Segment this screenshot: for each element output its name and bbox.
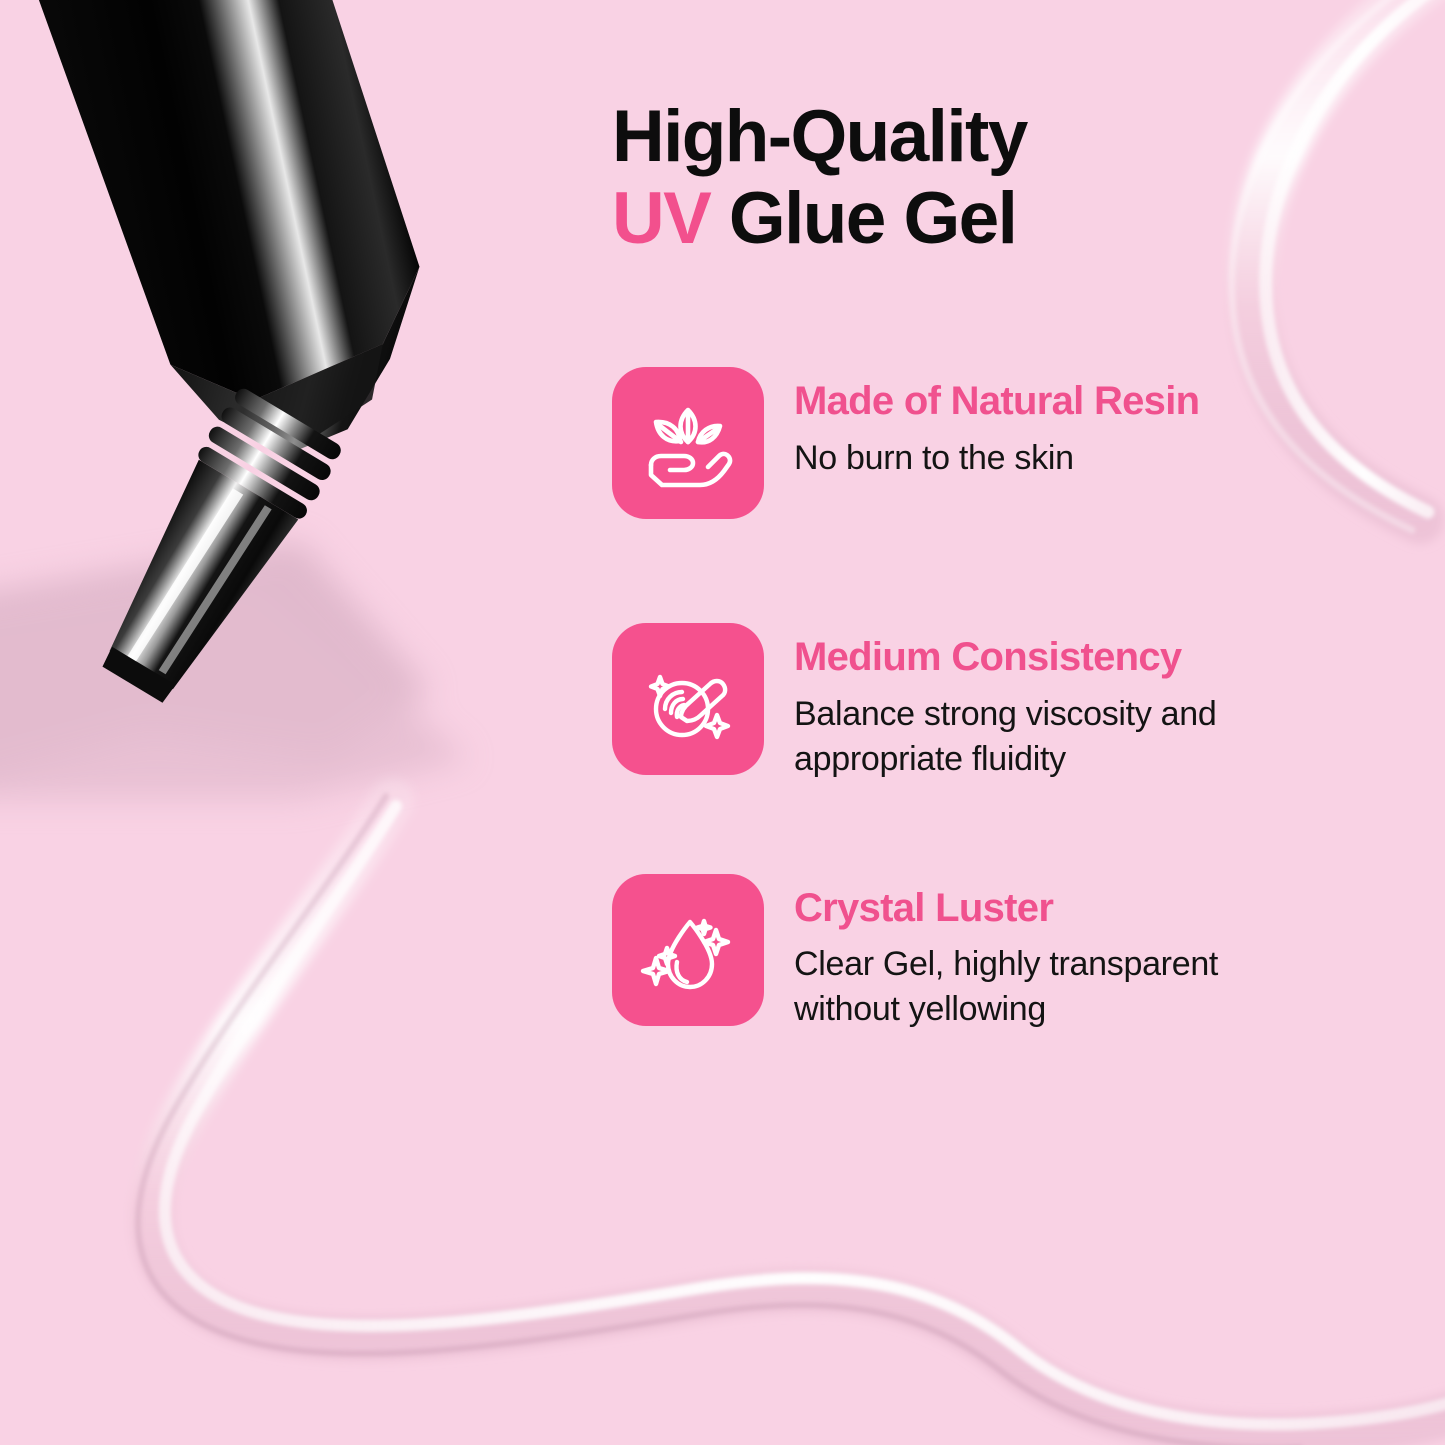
headline-line-1: High-Quality [612,96,1027,177]
tube-shadow [0,540,470,800]
headline-accent-uv: UV [612,178,710,259]
feature-description: Balance strong viscosity and appropriate… [794,692,1314,782]
hand-holding-leaves-icon [640,395,736,491]
feature-icon-tile [612,874,764,1026]
brush-in-bowl-sparkle-icon [640,651,736,747]
feature-item-crystal-luster: Crystal Luster Clear Gel, highly transpa… [612,874,1352,1033]
feature-title: Made of Natural Resin [794,379,1199,424]
infographic-canvas: Net Wt. 0.53 oz / 15 g High-Quality UV G… [0,0,1445,1445]
feature-text-block: Made of Natural Resin No burn to the ski… [764,367,1199,481]
feature-list: Made of Natural Resin No burn to the ski… [612,367,1352,1032]
feature-text-block: Medium Consistency Balance strong viscos… [764,623,1314,782]
feature-icon-tile [612,623,764,775]
feature-title: Medium Consistency [794,635,1314,680]
feature-description: Clear Gel, highly transparent without ye… [794,942,1314,1032]
product-tube-graphic: Net Wt. 0.53 oz / 15 g [0,0,490,850]
page-title: High-Quality UV Glue Gel [612,96,1352,261]
feature-item-natural-resin: Made of Natural Resin No burn to the ski… [612,367,1352,519]
feature-item-medium-consistency: Medium Consistency Balance strong viscos… [612,623,1352,782]
headline-line-2-rest: Glue Gel [729,178,1016,259]
feature-title: Crystal Luster [794,886,1314,931]
content-column: High-Quality UV Glue Gel [612,96,1352,1032]
water-droplet-sparkle-icon [640,902,736,998]
feature-description: No burn to the skin [794,436,1199,481]
feature-text-block: Crystal Luster Clear Gel, highly transpa… [764,874,1314,1033]
feature-icon-tile [612,367,764,519]
